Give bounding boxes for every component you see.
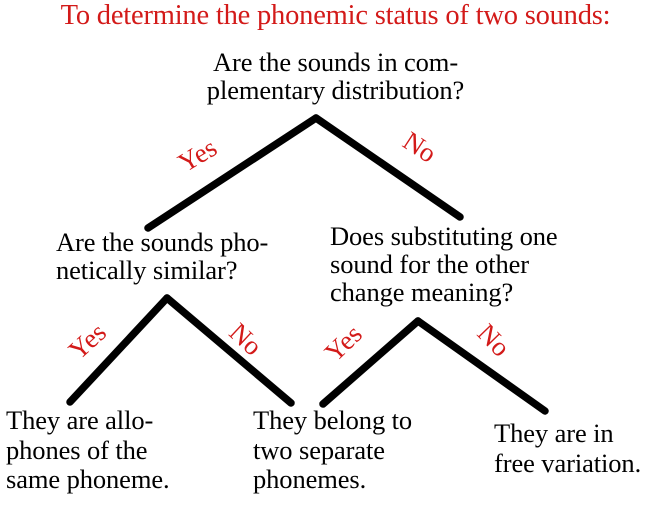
edge-label-root-yes: Yes [174,134,222,177]
question-node-complementary-distribution: Are the sounds in com- plementary distri… [0,48,671,104]
outcome-node-two-phonemes: They belong to two separate phonemes. [253,406,483,495]
edge-label-left-no: No [224,318,267,360]
outcome-node-free-variation: They are in free variation. [494,419,671,478]
question-node-phonetically-similar: Are the sounds pho- netically similar? [56,228,336,284]
decision-tree-diagram: To determine the phonemic status of two … [0,0,671,512]
branch-root-yes [148,118,316,228]
edge-label-left-yes: Yes [64,318,111,364]
branch-root-no [316,118,460,217]
page-title: To determine the phonemic status of two … [0,1,671,31]
edge-label-root-no: No [398,127,440,168]
question-node-change-meaning: Does substituting one sound for the othe… [330,222,630,306]
edge-label-right-yes: Yes [320,320,367,367]
edge-label-right-no: No [472,319,514,361]
outcome-node-allophones: They are allo- phones of the same phonem… [6,406,246,495]
branch-left-no [167,298,291,403]
